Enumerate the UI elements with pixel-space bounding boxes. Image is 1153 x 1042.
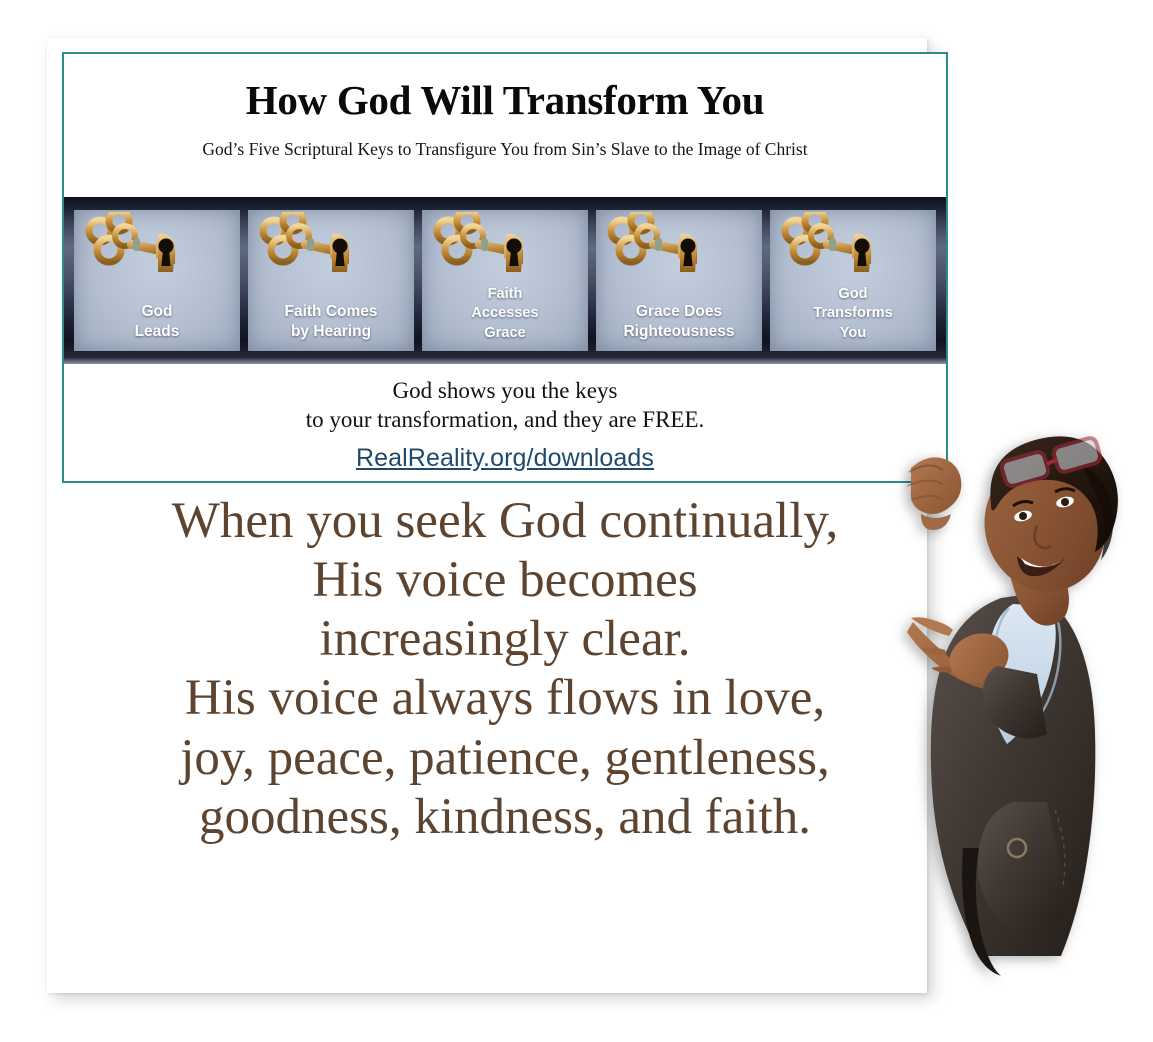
- key-icon: [426, 212, 544, 284]
- key-label: GodTransformsYou: [770, 285, 936, 343]
- quote-line: When you seek God continually,: [62, 492, 948, 551]
- flyer-panel: How God Will Transform You God’s Five Sc…: [62, 52, 948, 483]
- key-icon: [78, 212, 196, 284]
- key-label: GodLeads: [74, 302, 240, 343]
- key-icon: [774, 212, 892, 284]
- quote-line: increasingly clear.: [62, 610, 948, 669]
- flyer-footer: God shows you the keys to your transform…: [64, 364, 946, 473]
- download-link[interactable]: RealReality.org/downloads: [356, 444, 654, 473]
- presenter-photo: [905, 430, 1153, 1000]
- key-card-god-leads[interactable]: GodLeads: [74, 210, 240, 351]
- footer-line-1: God shows you the keys: [64, 377, 946, 406]
- key-label: Faith Comesby Hearing: [248, 302, 414, 343]
- key-card-faith-accesses-grace[interactable]: FaithAccessesGrace: [422, 210, 588, 351]
- key-label: Grace DoesRighteousness: [596, 302, 762, 343]
- keys-strip: GodLeads: [64, 197, 946, 364]
- poster-canvas: How God Will Transform You God’s Five Sc…: [0, 0, 1153, 1042]
- page-title: How God Will Transform You: [64, 79, 946, 122]
- key-icon: [252, 212, 370, 284]
- page-subtitle: God’s Five Scriptural Keys to Transfigur…: [64, 122, 946, 160]
- footer-line-2: to your transformation, and they are FRE…: [64, 406, 946, 435]
- quote-line: goodness, kindness, and faith.: [62, 788, 948, 847]
- key-card-faith-comes-by-hearing[interactable]: Faith Comesby Hearing: [248, 210, 414, 351]
- key-card-god-transforms-you[interactable]: GodTransformsYou: [770, 210, 936, 351]
- flyer-header: How God Will Transform You God’s Five Sc…: [64, 54, 946, 160]
- quote-block: When you seek God continually, His voice…: [62, 492, 948, 847]
- gripping-hand: [907, 457, 961, 530]
- quote-line: His voice always flows in love,: [62, 669, 948, 728]
- key-card-grace-does-righteousness[interactable]: Grace DoesRighteousness: [596, 210, 762, 351]
- quote-line: His voice becomes: [62, 551, 948, 610]
- key-label: FaithAccessesGrace: [422, 285, 588, 343]
- key-icon: [600, 212, 718, 284]
- quote-line: joy, peace, patience, gentleness,: [62, 729, 948, 788]
